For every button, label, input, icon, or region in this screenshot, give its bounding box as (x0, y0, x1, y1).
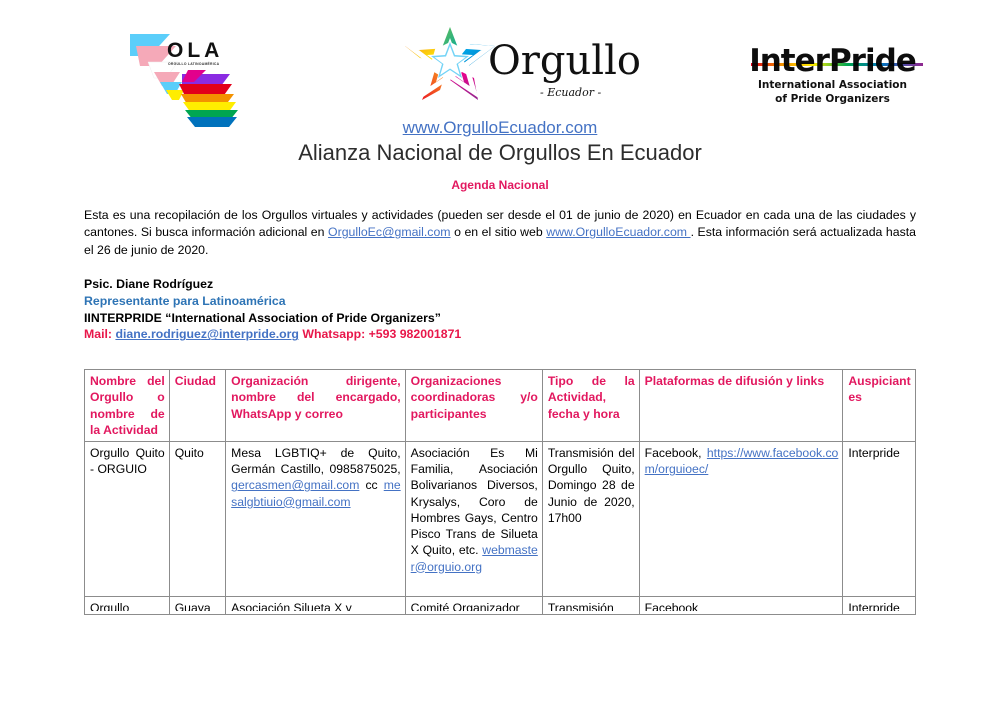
cell-coordinadoras-text: Comité Organizador (411, 600, 538, 611)
intro-paragraph: Esta es una recopilación de los Orgullos… (84, 207, 916, 259)
orgullo-wordmark: Orgullo (488, 41, 641, 81)
cell-plataformas-text: Facebook, (645, 446, 707, 460)
col-header-nombre: Nombre del Orgullo o nombre de la Activi… (85, 370, 170, 442)
col-header-organizacion: Organización dirigente, nombre del encar… (226, 370, 406, 442)
cell-ciudad: Quito (169, 442, 225, 597)
logo-band: OLA ORGULLO LATINOAMÉRICA (0, 0, 1000, 118)
cell-tipo-text: Transmisión (548, 600, 635, 611)
cell-organizacion-email-link-1[interactable]: gercasmen@gmail.com (231, 478, 359, 492)
signature-email-link[interactable]: diane.rodriguez@interpride.org (115, 327, 298, 341)
ola-logo-graphic (122, 12, 247, 132)
page-subtitle: Agenda Nacional (0, 178, 1000, 192)
cell-coordinadoras: Comité Organizador (405, 597, 542, 615)
cell-organizacion-cc: cc (359, 478, 383, 492)
cell-nombre: Orgullo Quito - ORGUIO (85, 442, 170, 597)
cell-coordinadoras-text: Asociación Es Mi Familia, Asociación Bol… (411, 446, 538, 557)
signature-contact: Mail: diane.rodriguez@interpride.org Wha… (84, 326, 916, 343)
table-row: Orgullo Guaya Asociación Silueta X y Com… (85, 597, 916, 615)
ola-logo: OLA ORGULLO LATINOAMÉRICA (122, 12, 247, 132)
intro-email-link[interactable]: OrgulloEc@gmail.com (328, 225, 451, 239)
rainbow-star-icon (400, 8, 500, 108)
cell-coordinadoras: Asociación Es Mi Familia, Asociación Bol… (405, 442, 542, 597)
signature-role: Representante para Latinoamérica (84, 293, 916, 310)
interpride-logo: InterPride International Association of … (740, 46, 925, 116)
col-header-ciudad: Ciudad (169, 370, 225, 442)
cell-auspiciantes: Interpride (843, 442, 916, 597)
whatsapp-text: Whatsapp: +593 982001871 (299, 327, 461, 341)
cell-plataformas: Facebook, https://www.facebook.com/orgui… (639, 442, 843, 597)
interpride-subtitle-line2: of Pride Organizers (740, 93, 925, 106)
table-row: Orgullo Quito - ORGUIO Quito Mesa LGBTIQ… (85, 442, 916, 597)
cell-ciudad: Guaya (169, 597, 225, 615)
cell-nombre: Orgullo (85, 597, 170, 615)
intro-text-part2: o en el sitio web (451, 225, 547, 239)
col-header-tipo: Tipo de la Actividad, fecha y hora (542, 370, 639, 442)
table-header-row: Nombre del Orgullo o nombre de la Activi… (85, 370, 916, 442)
cell-plataformas-text: Facebook (645, 600, 839, 611)
interpride-subtitle-line1: International Association (740, 79, 925, 92)
cell-plataformas: Facebook (639, 597, 843, 615)
col-header-auspiciantes: Auspiciantes (843, 370, 916, 442)
cell-organizacion-text: Mesa LGBTIQ+ de Quito, Germán Castillo, … (231, 446, 401, 476)
cell-tipo: Transmisión (542, 597, 639, 615)
cell-organizacion-text: Asociación Silueta X y (231, 600, 401, 611)
cell-auspiciantes-text: Interpride (848, 600, 911, 611)
col-header-coordinadoras: Organizaciones coordinadoras y/o partici… (405, 370, 542, 442)
signature-block: Psic. Diane Rodríguez Representante para… (84, 276, 916, 343)
ola-wordmark: OLA (167, 40, 223, 61)
orgullo-ecuador-logo: Orgullo - Ecuador - (400, 8, 610, 118)
col-header-plataformas: Plataformas de difusión y links (639, 370, 843, 442)
cell-organizacion: Asociación Silueta X y (226, 597, 406, 615)
interpride-wordmark-text: InterPride (749, 43, 916, 79)
rainbow-stripe-icon (751, 63, 923, 66)
page-title: Alianza Nacional de Orgullos En Ecuador (0, 139, 1000, 167)
cell-tipo: Transmisión del Orgullo Quito, Domingo 2… (542, 442, 639, 597)
agenda-table: Nombre del Orgullo o nombre de la Activi… (84, 369, 916, 615)
document-page: OLA ORGULLO LATINOAMÉRICA (0, 0, 1000, 707)
table-body: Orgullo Quito - ORGUIO Quito Mesa LGBTIQ… (85, 442, 916, 615)
ola-subtitle: ORGULLO LATINOAMÉRICA (168, 62, 219, 66)
signature-organization: IINTERPRIDE “International Association o… (84, 310, 916, 327)
cell-ciudad-text: Guaya (175, 600, 221, 611)
orgullo-country-label: - Ecuador - (540, 86, 601, 99)
cell-auspiciantes: Interpride (843, 597, 916, 615)
mail-label: Mail: (84, 327, 115, 341)
signature-name: Psic. Diane Rodríguez (84, 276, 916, 293)
table-header: Nombre del Orgullo o nombre de la Activi… (85, 370, 916, 442)
cell-organizacion: Mesa LGBTIQ+ de Quito, Germán Castillo, … (226, 442, 406, 597)
intro-website-link[interactable]: www.OrgulloEcuador.com (546, 225, 690, 239)
cell-nombre-text: Orgullo (90, 600, 165, 611)
interpride-wordmark: InterPride (749, 46, 916, 78)
